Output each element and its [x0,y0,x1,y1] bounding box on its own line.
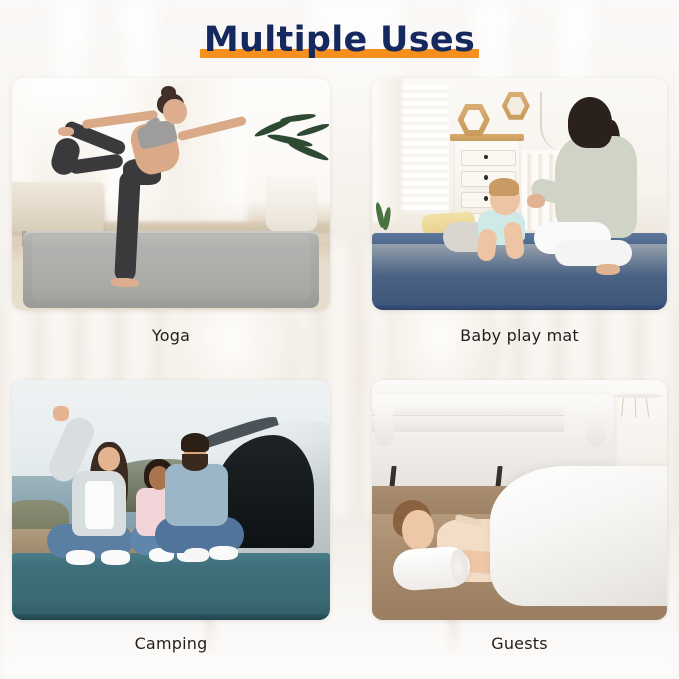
scene-yoga [12,78,330,310]
person-head [163,99,187,125]
baby-figure [372,78,667,310]
person-standing-foot [111,278,140,287]
scene-guests [372,380,667,620]
man-shirt [165,464,229,526]
page-title: Multiple Uses [0,14,679,66]
baby-arm [477,228,498,262]
person-hair-bun [161,86,175,99]
man-sneaker [184,548,209,562]
man-beard [182,454,207,471]
scene-baby-play-mat [372,78,667,310]
photo-card-baby-play-mat [372,78,667,310]
page-title-text: Multiple Uses [204,17,475,63]
label-guests: Guests [372,634,667,653]
person-standing-leg [114,170,140,282]
baby-hair [489,178,520,197]
label-yoga: Yoga [12,326,330,345]
photo-card-yoga [12,78,330,310]
white-duvet [490,466,667,605]
photo-card-camping [12,380,330,620]
woman-head [402,510,434,551]
person-raised-foot [58,127,74,136]
man-hair [181,433,210,452]
scene-camping [12,380,330,620]
yoga-person [12,78,330,310]
camping-man [12,380,330,620]
photo-card-guests [372,380,667,620]
infographic-page: Multiple Uses [0,0,679,679]
man-sneaker [209,546,238,560]
label-camping: Camping [12,634,330,653]
person-front-arm [177,116,247,142]
bolster-pillow [391,545,470,591]
label-baby-play-mat: Baby play mat [372,326,667,345]
